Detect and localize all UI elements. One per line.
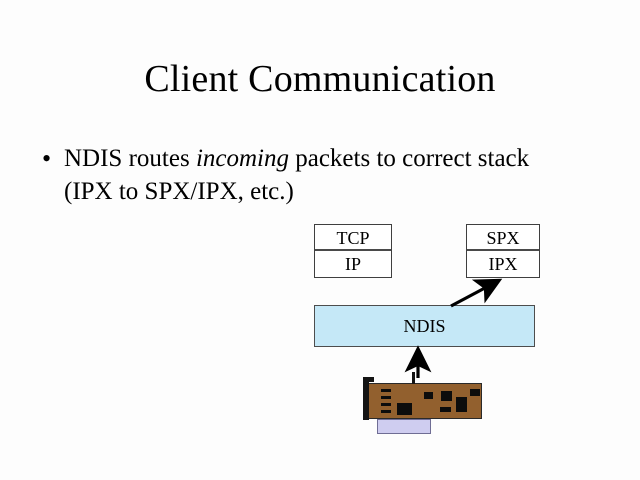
nic-circuit-board bbox=[366, 383, 482, 419]
nic-pin bbox=[381, 389, 391, 392]
nic-chip bbox=[456, 397, 467, 412]
tcp-cell: TCP bbox=[315, 225, 391, 251]
nic-bracket bbox=[363, 378, 369, 420]
spx-ipx-stack: SPX IPX bbox=[466, 224, 540, 278]
bullet-text-emphasis: incoming bbox=[196, 145, 289, 172]
nic-chip bbox=[441, 391, 452, 401]
nic-chip bbox=[424, 392, 433, 399]
nic-pin bbox=[381, 396, 391, 399]
bullet-item: • NDIS routes incoming packets to correc… bbox=[42, 142, 562, 208]
tcp-ip-stack: TCP IP bbox=[314, 224, 392, 278]
network-interface-card bbox=[358, 377, 482, 437]
nic-pin bbox=[381, 410, 391, 413]
spx-cell: SPX bbox=[467, 225, 539, 251]
nic-antenna bbox=[412, 372, 415, 384]
ndis-box: NDIS bbox=[314, 305, 535, 347]
page-title: Client Communication bbox=[0, 56, 640, 102]
slide-canvas: Client Communication • NDIS routes incom… bbox=[0, 0, 640, 480]
bullet-text: NDIS routes incoming packets to correct … bbox=[64, 142, 562, 208]
nic-chip bbox=[470, 389, 480, 396]
nic-bracket-tab bbox=[363, 377, 374, 382]
ndis-to-ipx-arrow bbox=[451, 281, 498, 306]
ip-cell: IP bbox=[315, 251, 391, 277]
nic-chip bbox=[397, 403, 412, 415]
nic-edge-connector bbox=[377, 419, 431, 434]
ipx-cell: IPX bbox=[467, 251, 539, 277]
nic-chip bbox=[440, 407, 451, 412]
bullet-marker: • bbox=[42, 142, 64, 175]
bullet-text-part-1: NDIS routes bbox=[64, 145, 196, 172]
nic-pin bbox=[381, 403, 391, 406]
